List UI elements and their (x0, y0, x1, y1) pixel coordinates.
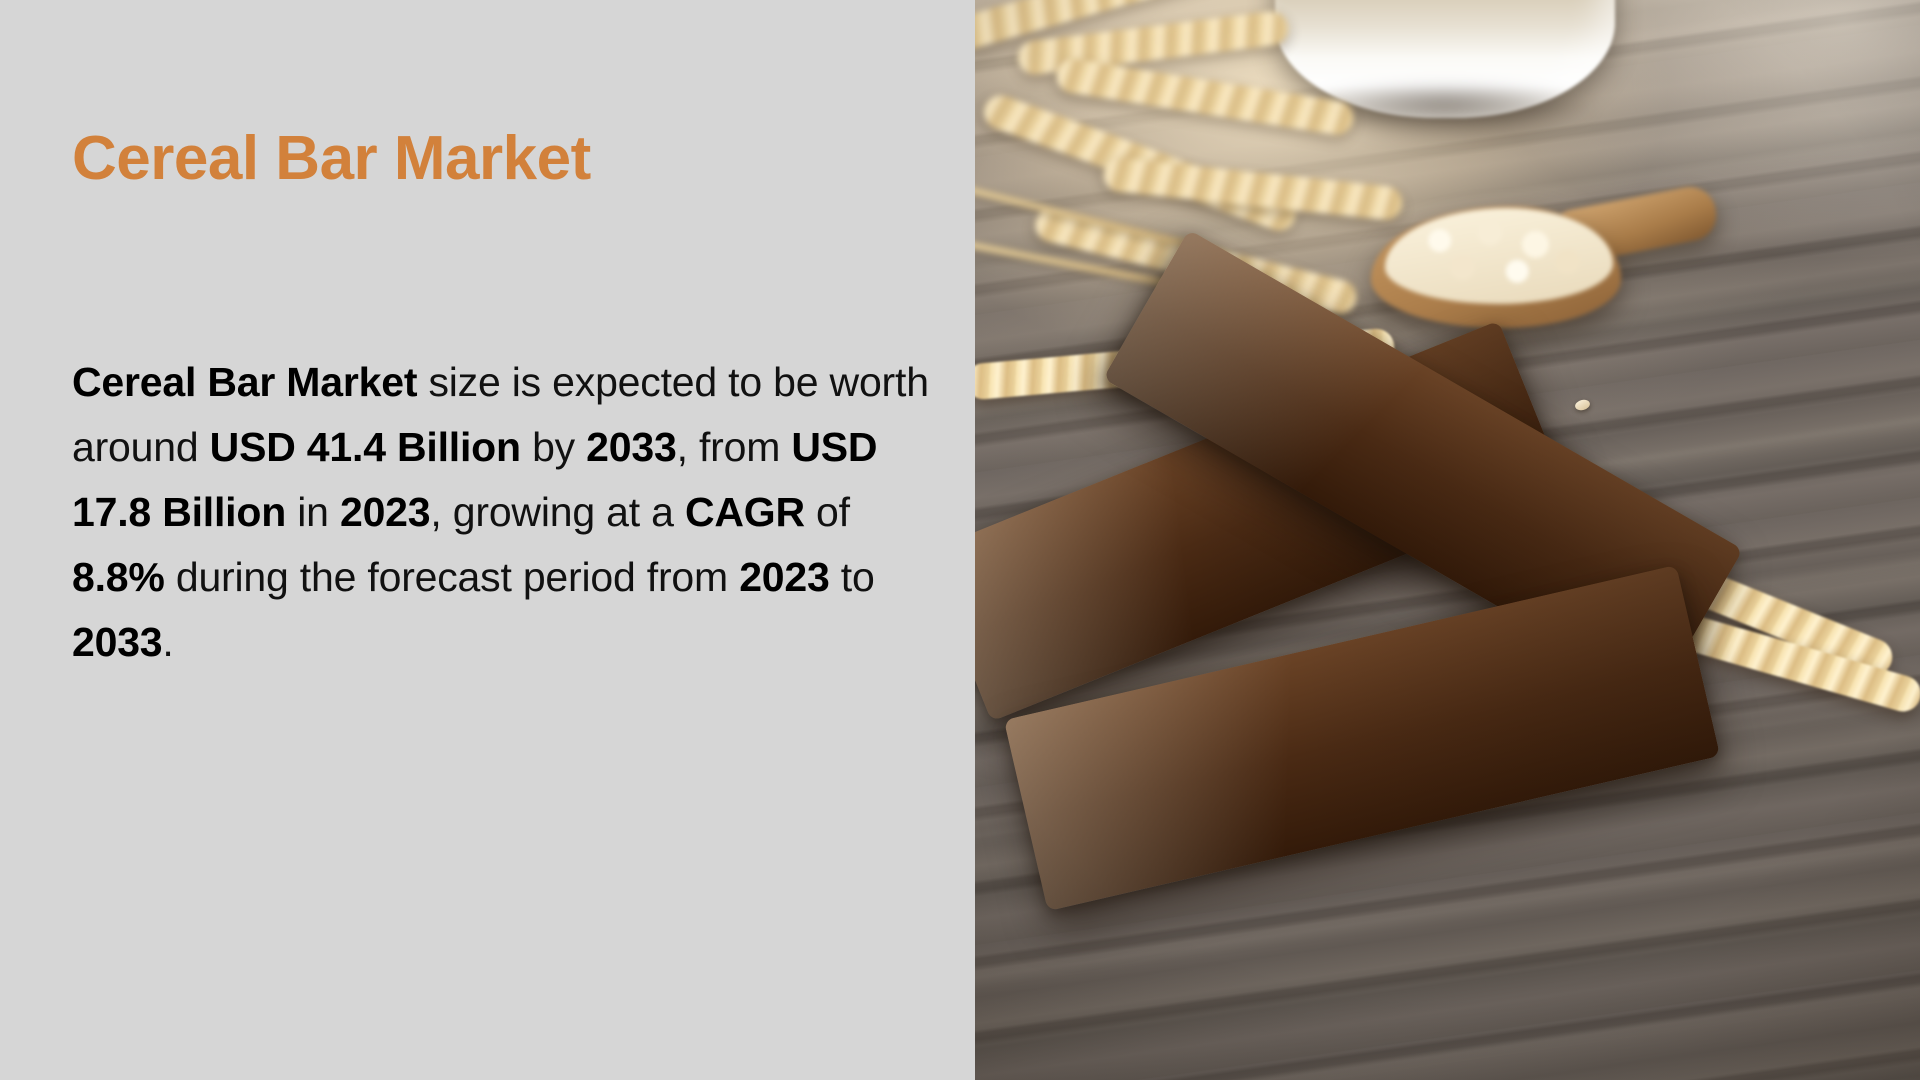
text-panel: Cereal Bar Market Cereal Bar Market size… (0, 0, 975, 1080)
text-panel-inner: Cereal Bar Market Cereal Bar Market size… (72, 0, 902, 1080)
summary-text: . (162, 619, 173, 665)
summary-text: of (805, 489, 850, 535)
cereal-bar-market-infographic: Cereal Bar Market Cereal Bar Market size… (0, 0, 1920, 1080)
summary-text: during the forecast period from (165, 554, 740, 600)
summary-emphasis: CAGR (685, 489, 805, 535)
summary-emphasis: 8.8% (72, 554, 165, 600)
product-photo (975, 0, 1920, 1080)
summary-text: by (521, 424, 586, 470)
summary-text: , growing at a (430, 489, 685, 535)
summary-emphasis: 2033 (72, 619, 162, 665)
wooden-spoon-with-oats (1371, 192, 1701, 342)
page-title: Cereal Bar Market (72, 128, 591, 190)
market-summary-text: Cereal Bar Market size is expected to be… (72, 350, 932, 675)
summary-emphasis: Cereal Bar Market (72, 359, 417, 405)
spoon-bowl (1371, 206, 1621, 328)
summary-emphasis: 2033 (586, 424, 676, 470)
summary-emphasis: USD 41.4 Billion (210, 424, 521, 470)
summary-text: , from (677, 424, 792, 470)
summary-text: to (830, 554, 875, 600)
summary-emphasis: 2023 (739, 554, 829, 600)
oats-in-spoon (1385, 208, 1613, 304)
summary-emphasis: 2023 (340, 489, 430, 535)
summary-text: in (286, 489, 340, 535)
